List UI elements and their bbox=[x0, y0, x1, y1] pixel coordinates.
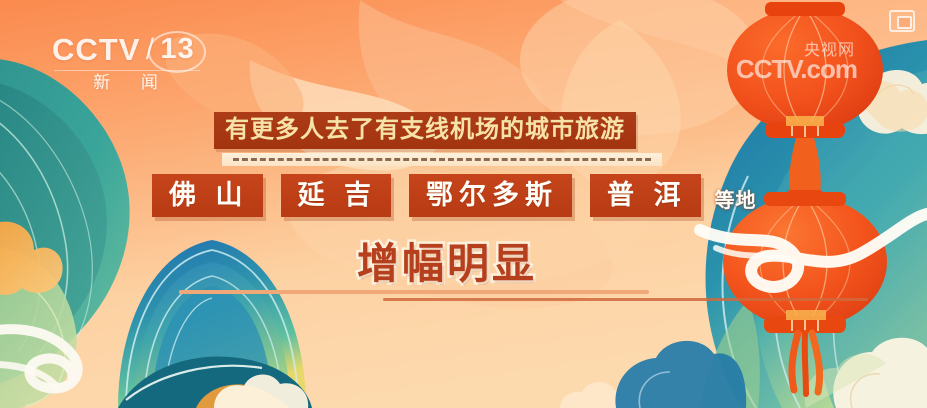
headline-label: 有更多人去了有支线机场的城市旅游 bbox=[225, 117, 625, 143]
headline-bar: 有更多人去了有支线机场的城市旅游 bbox=[214, 112, 636, 149]
accent-rule-light bbox=[179, 290, 649, 294]
city-tag-row: 佛 山 延 吉 鄂尔多斯 普 洱 等地 bbox=[152, 174, 757, 217]
accent-rule-dark bbox=[383, 298, 868, 301]
dashed-divider bbox=[222, 153, 662, 166]
logo-ring-decoration bbox=[148, 31, 206, 73]
city-tag-ordos[interactable]: 鄂尔多斯 bbox=[409, 174, 572, 217]
city-tag-yanji[interactable]: 延 吉 bbox=[281, 174, 392, 217]
cctv-channel-logo: CCTV / 13 新 闻 bbox=[52, 34, 202, 96]
broadcast-graphic: CCTV / 13 新 闻 央视网 CCTV.com 有更多人去了有支线机场的城… bbox=[0, 0, 927, 408]
city-tag-foshan[interactable]: 佛 山 bbox=[152, 174, 263, 217]
city-tag-label: 普 洱 bbox=[604, 180, 687, 210]
city-tag-puer[interactable]: 普 洱 bbox=[590, 174, 701, 217]
picture-in-picture-icon[interactable] bbox=[889, 10, 913, 30]
city-tag-suffix: 等地 bbox=[715, 184, 757, 213]
headline-container: 有更多人去了有支线机场的城市旅游 bbox=[214, 112, 636, 149]
cctv-com-watermark: 央视网 CCTV.com bbox=[736, 36, 857, 85]
growth-statement: 增幅明显 bbox=[357, 240, 537, 288]
pip-inner-frame bbox=[897, 16, 912, 29]
city-tag-label: 延 吉 bbox=[295, 180, 378, 210]
logo-cctv-text: CCTV bbox=[52, 34, 140, 65]
watermark-english: CCTV.com bbox=[736, 54, 857, 85]
dashed-line bbox=[233, 158, 651, 161]
city-tag-label: 鄂尔多斯 bbox=[423, 180, 558, 210]
logo-underline bbox=[54, 70, 200, 71]
city-tag-label: 佛 山 bbox=[166, 180, 249, 210]
